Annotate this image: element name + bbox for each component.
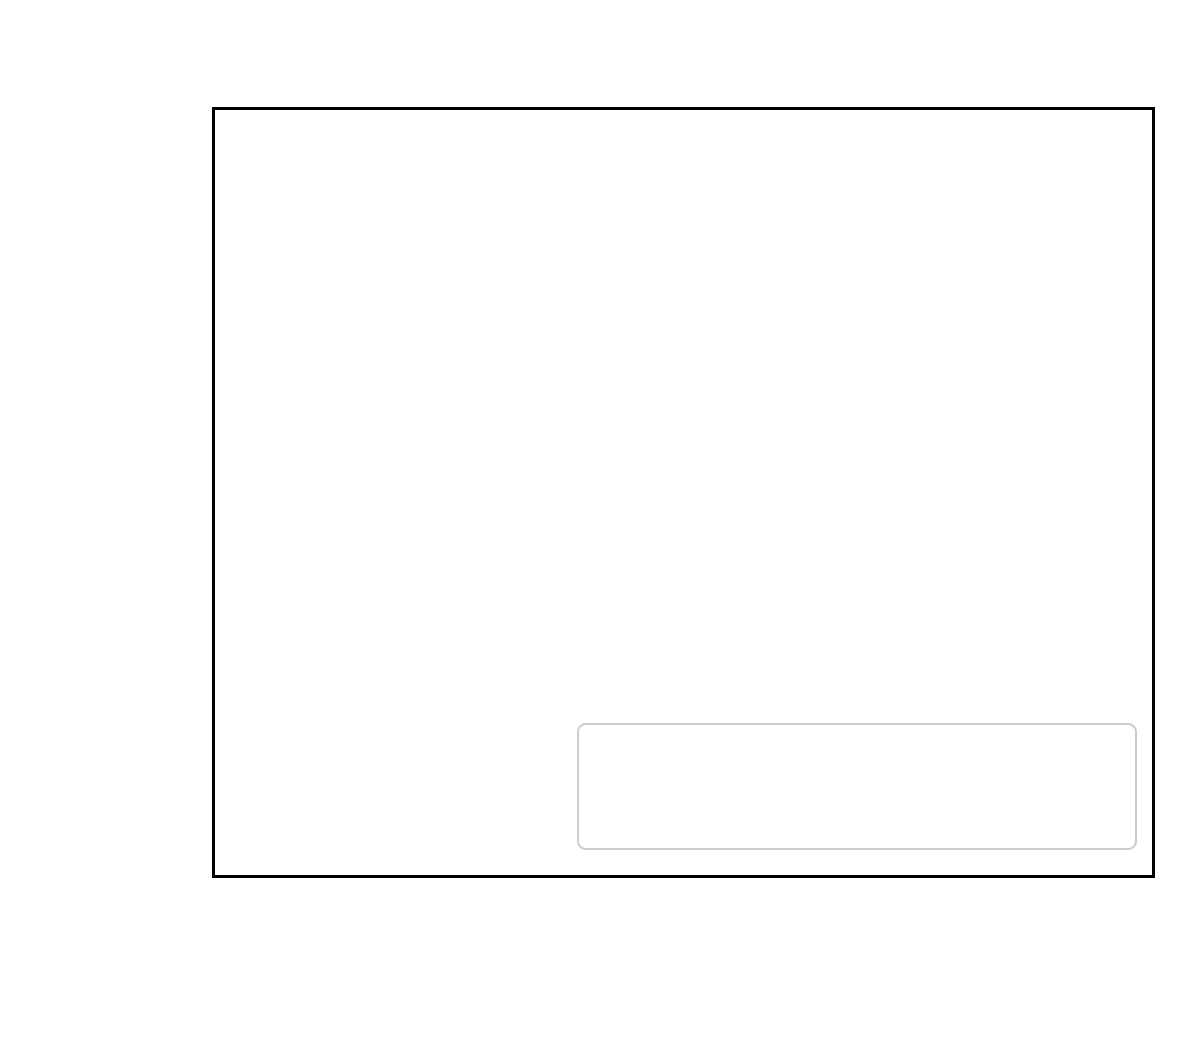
- legend-swatch-top-cell: [601, 804, 673, 827]
- legend-box: [577, 723, 1137, 850]
- legend-marker-rest-icon: [626, 749, 649, 772]
- legend-item-top: [579, 788, 1135, 843]
- legend-item-rest: [579, 733, 1135, 788]
- legend-swatch-rest-cell: [601, 749, 673, 772]
- legend-marker-top-icon: [626, 804, 649, 827]
- figure-canvas: [0, 0, 1200, 1050]
